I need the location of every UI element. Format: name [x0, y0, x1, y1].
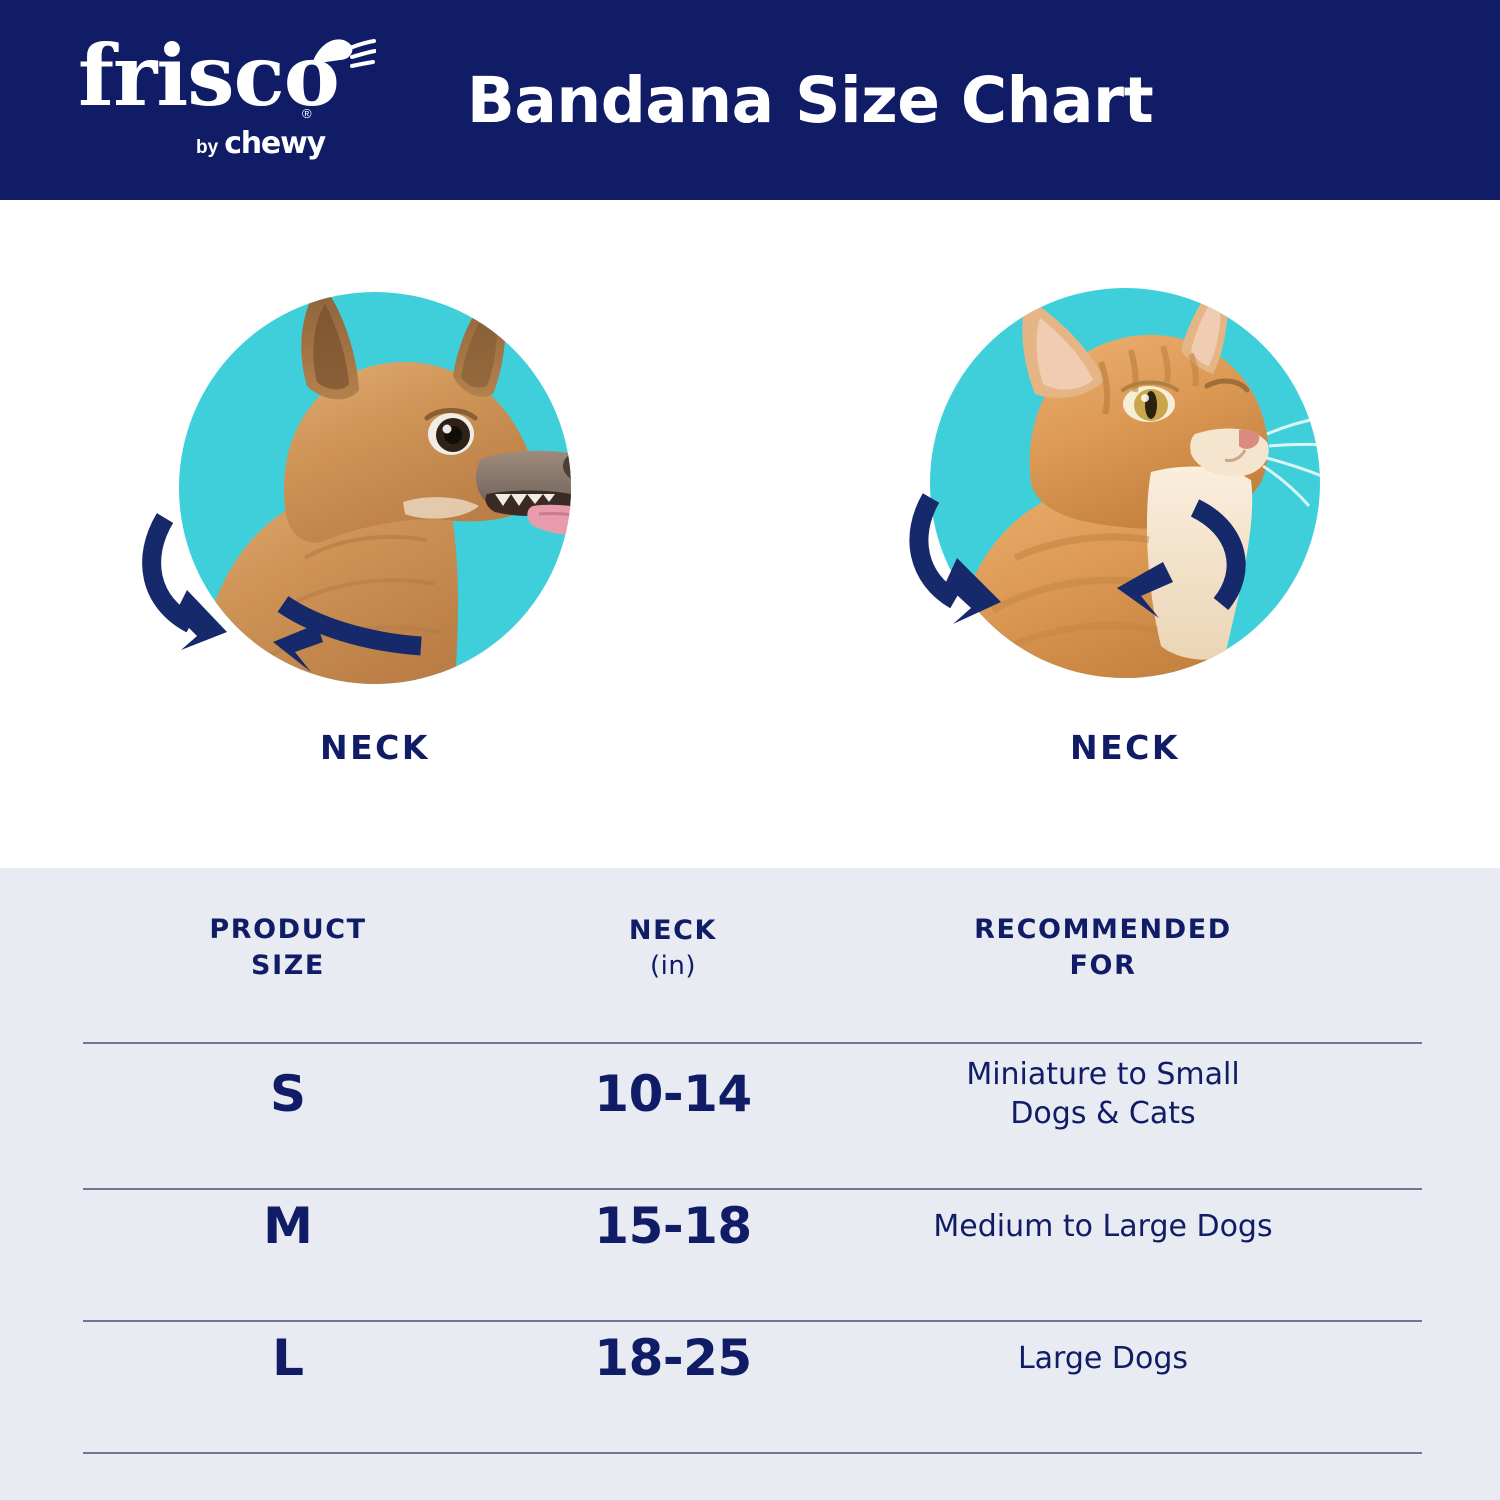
size-chart-page: frisco ® by chewy Bandana Size Chart [0, 0, 1500, 1500]
dog-illustration [135, 258, 615, 723]
cell-recommended: Medium to Large Dogs [853, 1207, 1353, 1246]
table-header-row: PRODUCT SIZE NECK (in) RECOMMENDED FOR [0, 868, 1500, 1028]
table-row: L 18-25 Large Dogs [0, 1292, 1500, 1424]
column-header-recommended-for: RECOMMENDED FOR [853, 912, 1353, 983]
cell-size: S [83, 1065, 493, 1123]
column-header-product-size: PRODUCT SIZE [83, 912, 493, 983]
cell-neck: 18-25 [493, 1329, 853, 1387]
cat-measure-panel: NECK [750, 200, 1500, 868]
cell-size: M [83, 1197, 493, 1255]
cat-neck-label: NECK [750, 728, 1500, 767]
cat-illustration [895, 258, 1355, 713]
column-header-neck: NECK (in) [493, 913, 853, 983]
table-divider [83, 1452, 1422, 1454]
cell-neck: 15-18 [493, 1197, 853, 1255]
dog-graphic [135, 258, 615, 718]
cell-recommended: Miniature to Small Dogs & Cats [853, 1055, 1353, 1133]
size-table: PRODUCT SIZE NECK (in) RECOMMENDED FOR S… [0, 868, 1500, 1424]
dog-neck-label: NECK [0, 728, 750, 767]
illustration-band: NECK [0, 200, 1500, 868]
cell-neck: 10-14 [493, 1065, 853, 1123]
table-row: S 10-14 Miniature to Small Dogs & Cats [0, 1028, 1500, 1160]
dog-measure-panel: NECK [0, 200, 750, 868]
cell-size: L [83, 1329, 493, 1387]
size-table-section: PRODUCT SIZE NECK (in) RECOMMENDED FOR S… [0, 868, 1500, 1500]
cell-recommended: Large Dogs [853, 1339, 1353, 1378]
table-row: M 15-18 Medium to Large Dogs [0, 1160, 1500, 1292]
page-header: frisco ® by chewy Bandana Size Chart [0, 0, 1500, 200]
cat-graphic [895, 258, 1355, 708]
page-title: Bandana Size Chart [0, 0, 1500, 200]
